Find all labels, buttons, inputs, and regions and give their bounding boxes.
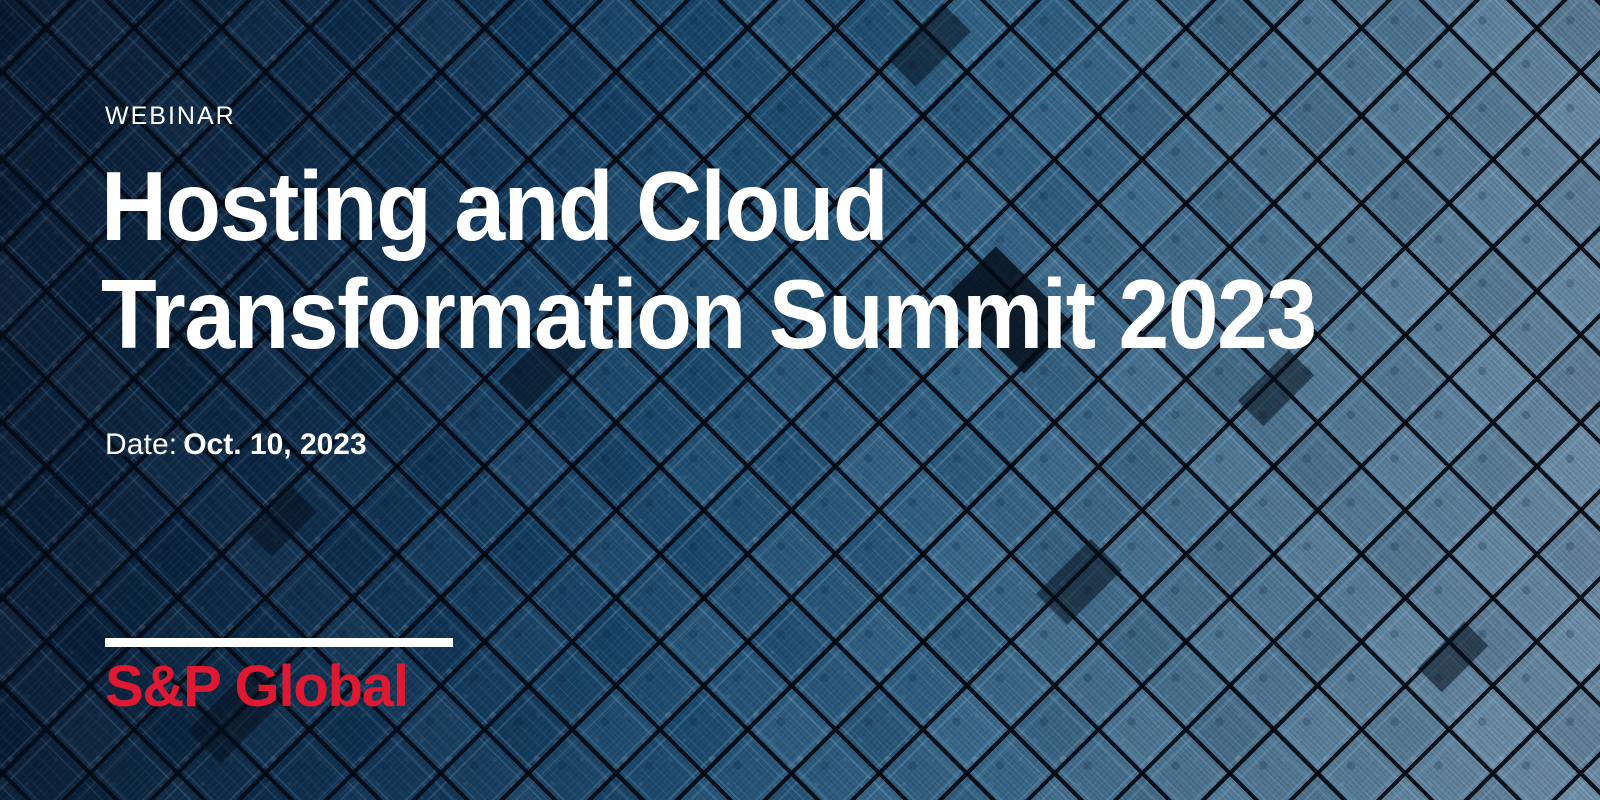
- webinar-promo-banner: WEBINAR Hosting and Cloud Transformation…: [0, 0, 1600, 800]
- logo-wordmark: S&P Global: [105, 658, 453, 716]
- event-date: Date:Oct. 10, 2023: [105, 430, 367, 460]
- banner-content: WEBINAR Hosting and Cloud Transformation…: [0, 0, 1600, 800]
- date-label: Date:: [105, 428, 177, 461]
- title-line-2: Transformation Summit 2023: [101, 260, 1459, 368]
- sp-global-logo: S&P Global: [105, 638, 453, 716]
- logo-rule: [105, 638, 453, 647]
- title-line-1: Hosting and Cloud: [101, 152, 1459, 260]
- eyebrow-label: WEBINAR: [105, 104, 236, 129]
- page-title: Hosting and Cloud Transformation Summit …: [101, 152, 1459, 368]
- date-value: Oct. 10, 2023: [183, 428, 366, 461]
